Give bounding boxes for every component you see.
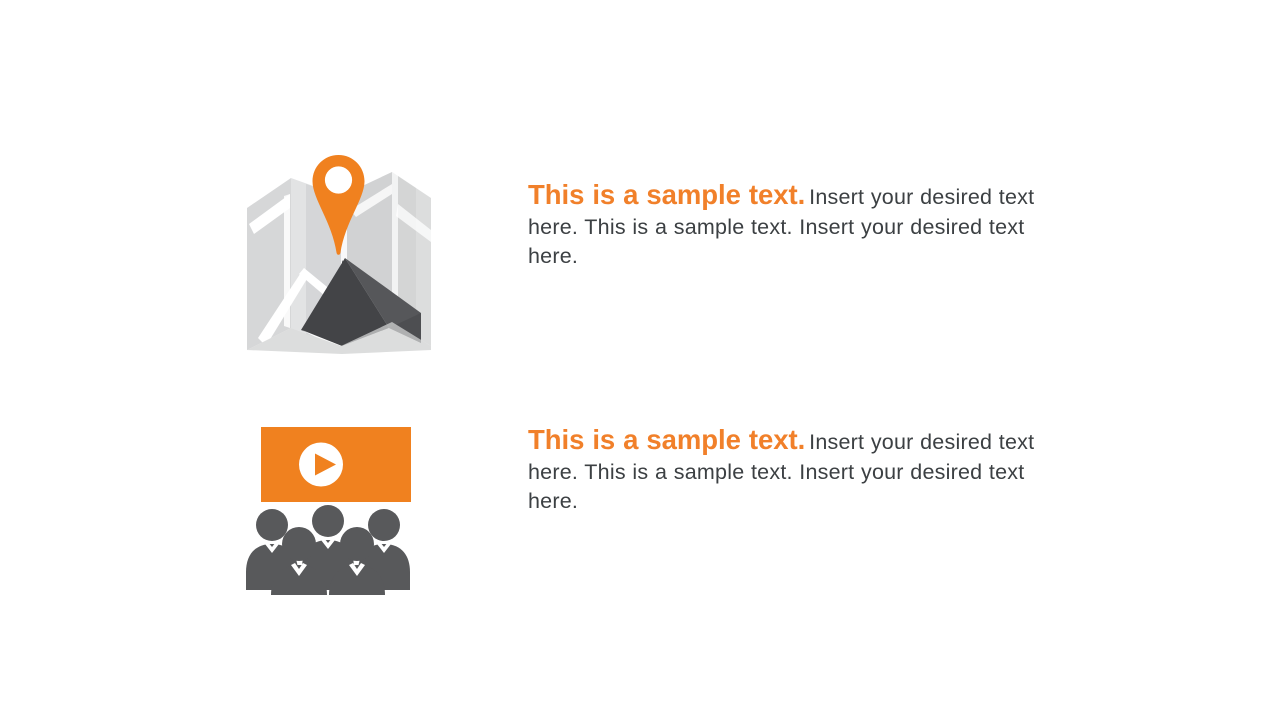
folded-map-with-location-pin-icon [246,150,432,355]
slide-canvas: This is a sample text.Insert your desire… [0,0,1280,720]
paragraph-map: This is a sample text.Insert your desire… [528,180,1040,272]
paragraph-video: This is a sample text.Insert your desire… [528,425,1040,517]
content-row-video: This is a sample text.Insert your desire… [0,420,1280,595]
text-block-video: This is a sample text.Insert your desire… [528,425,1040,517]
headline-video: This is a sample text. [528,424,805,455]
video-screen-with-audience-icon [246,420,411,595]
content-row-map: This is a sample text.Insert your desire… [0,150,1280,360]
text-block-map: This is a sample text.Insert your desire… [528,180,1040,272]
headline-map: This is a sample text. [528,179,805,210]
